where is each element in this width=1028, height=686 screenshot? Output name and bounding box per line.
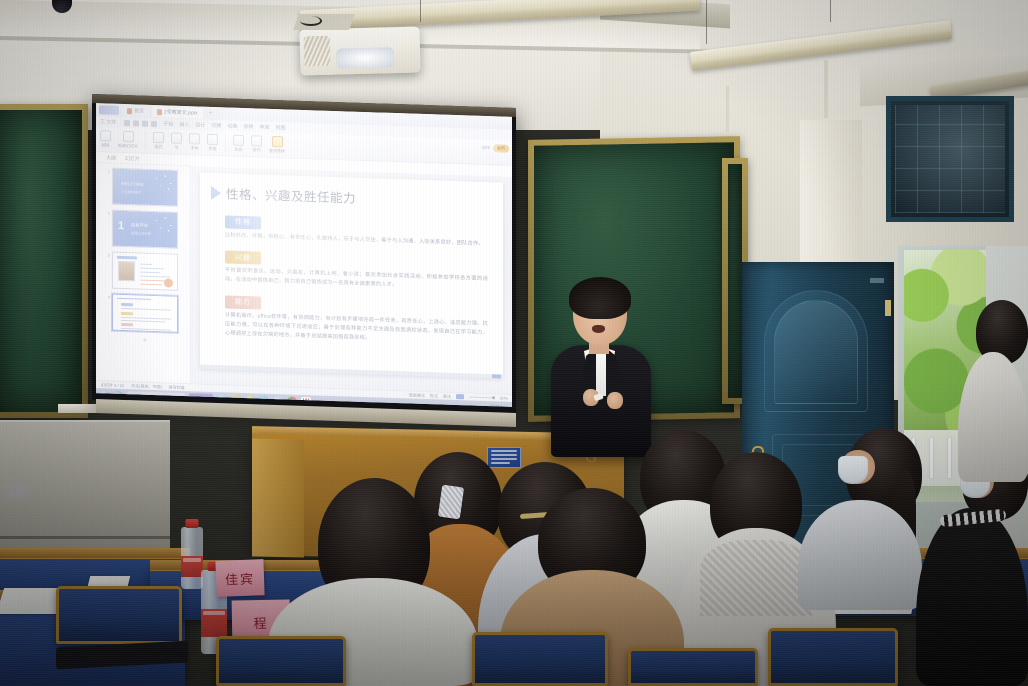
thumb-big-number: 1 <box>118 221 124 232</box>
projector-vent <box>304 36 331 67</box>
classroom-scene: 首页 2号教室文.pptx + 三 文件 开始 插入 设 <box>0 0 1028 686</box>
menu-item-0[interactable]: 开始 <box>163 120 173 127</box>
slide-text-personality: 比较外向、开朗，有耐心、有责任心，礼貌待人，乐于与人交往，善于与人沟通，人际关系… <box>225 231 488 249</box>
home-icon <box>127 108 132 114</box>
menu-item-5[interactable]: 放映 <box>243 123 253 130</box>
ribbon-paragraph[interactable]: 段落 <box>207 134 218 152</box>
thumb-number: 1 <box>105 167 110 173</box>
presenter-hair <box>569 277 631 319</box>
door-hinge <box>885 300 891 316</box>
projection-screen: 首页 2号教室文.pptx + 三 文件 开始 插入 设 <box>92 94 516 414</box>
ceiling-pipe <box>824 60 828 118</box>
chair-5 <box>768 628 898 686</box>
ribbon-collab-label[interactable]: 协作 <box>482 145 490 151</box>
thumb-number: 2 <box>105 209 110 215</box>
projector-lens <box>336 47 395 69</box>
redo-icon[interactable] <box>151 120 157 126</box>
ribbon-arrange[interactable]: 排列 <box>251 135 262 153</box>
ribbon-shape-label: 形状 <box>235 147 243 153</box>
ribbon-find-label: 查找替换 <box>269 148 285 155</box>
list-item: + <box>105 335 187 346</box>
wps-workarea: 大纲 幻灯片 1 WELCOME 人生规划展示 2 <box>96 152 512 394</box>
status-notes[interactable]: 备注 <box>443 393 451 399</box>
find-icon <box>272 136 283 147</box>
wps-logo-icon <box>99 105 119 115</box>
undo-icon[interactable] <box>142 120 148 126</box>
water-bottle-1 <box>181 527 203 589</box>
file-menu[interactable]: 三 文件 <box>100 118 116 126</box>
chair-4 <box>628 648 758 686</box>
menu-item-3[interactable]: 切换 <box>211 122 221 129</box>
hair-clip-1 <box>438 485 464 520</box>
ribbon-paragraph-label: 段落 <box>209 146 217 152</box>
system-tray: ▲ ◄ 中 13:41 2021/4/29 ▣ <box>467 403 509 407</box>
menu-item-4[interactable]: 动画 <box>227 122 237 129</box>
left-chalkboard <box>0 104 88 418</box>
ribbon-font-label: 字体 <box>191 145 199 151</box>
status-spellcheck[interactable]: 拼写检查 <box>169 384 185 391</box>
section-icon <box>171 133 182 144</box>
ribbon-divider-2 <box>225 134 226 152</box>
horizontal-scrollbar[interactable] <box>200 365 503 379</box>
ribbon-section[interactable]: 节 <box>171 133 182 151</box>
ceiling-pipe-2 <box>726 86 729 132</box>
member-badge[interactable]: 会员 <box>493 144 509 153</box>
ribbon-find-replace[interactable]: 查找替换 <box>269 136 285 155</box>
ceiling-projector <box>299 26 420 75</box>
layout-icon <box>153 132 164 143</box>
face-mask-1 <box>838 456 868 484</box>
slide-thumbnail-3[interactable] <box>112 252 178 291</box>
thumb-title: 自我评估 <box>131 222 148 229</box>
tab-home[interactable]: 首页 <box>122 105 149 117</box>
cabinet-seam <box>0 536 170 539</box>
slide-tag-ability: 能力 <box>225 295 261 309</box>
slide-text-ability: 计算机操作，office软件等，有协调能力，有计划有步骤地完成一件任务，有责任心… <box>225 311 488 347</box>
slide-thumbnail-4[interactable] <box>112 294 178 333</box>
slideshow-play-icon[interactable] <box>456 394 464 399</box>
slide-heading: 性格、兴趣及胜任能力 <box>226 183 356 206</box>
status-comment[interactable]: 批注 <box>430 393 438 399</box>
status-beautify[interactable]: 智能美化 <box>409 392 425 399</box>
tab-home-label: 首页 <box>134 107 144 114</box>
ribbon-divider <box>145 132 146 150</box>
list-item[interactable]: 4 <box>105 293 187 333</box>
ribbon-layout[interactable]: 版式 <box>153 132 164 150</box>
ribbon-layout-label: 版式 <box>155 144 163 150</box>
thumb-number: 4 <box>105 293 110 299</box>
menu-item-1[interactable]: 插入 <box>179 121 189 128</box>
paragraph-icon <box>207 134 218 145</box>
font-icon <box>189 133 200 144</box>
add-slide-button[interactable]: + <box>112 336 178 346</box>
tab-slides[interactable]: 幻灯片 <box>125 155 140 162</box>
thumb-sub: 自我认知分析 <box>131 230 151 236</box>
ribbon-new-slide[interactable]: 新建幻灯片 <box>118 131 138 150</box>
presenter-mouth <box>592 325 605 333</box>
list-item[interactable]: 3 <box>105 251 187 291</box>
ribbon-new-slide-label: 新建幻灯片 <box>118 143 138 150</box>
tab-file-label: 2号教室文.pptx <box>164 108 198 116</box>
chair-3 <box>472 632 608 686</box>
input-method-icon[interactable]: 中 <box>480 405 484 407</box>
shape-icon <box>233 135 244 146</box>
save-icon[interactable] <box>124 120 130 126</box>
ribbon-shape[interactable]: 形状 <box>233 135 244 153</box>
tab-outline[interactable]: 大纲 <box>106 154 116 161</box>
slide-heading-row: 性格、兴趣及胜任能力 <box>211 183 492 211</box>
name-card-guest: 佳宾 <box>215 559 264 597</box>
projected-desktop[interactable]: 首页 2号教室文.pptx + 三 文件 开始 插入 设 <box>96 103 512 407</box>
ppt-file-icon <box>157 109 162 115</box>
triangle-bullet-icon <box>211 185 221 199</box>
paste-icon <box>100 130 111 141</box>
taskbar-clock[interactable]: 13:41 2021/4/29 <box>487 404 503 407</box>
cabinet-smudge <box>2 480 32 502</box>
light-hanger <box>420 0 421 22</box>
slide-tag-personality: 性格 <box>225 215 261 229</box>
status-zoom-level[interactable]: 60% <box>500 396 508 401</box>
quick-access-toolbar[interactable] <box>124 120 157 127</box>
zoom-slider[interactable] <box>469 396 495 398</box>
thumb-title: WELCOME <box>121 181 144 187</box>
new-tab-button[interactable]: + <box>206 110 216 117</box>
ribbon-paste[interactable]: 粘贴 <box>100 130 111 148</box>
list-item[interactable]: 1 WELCOME 人生规划展示 <box>105 167 187 207</box>
thumb-number: 3 <box>105 251 110 257</box>
chair-1 <box>56 586 182 644</box>
lectern-side <box>252 438 304 557</box>
print-icon[interactable] <box>133 120 139 126</box>
light-hanger-2 <box>706 0 707 44</box>
ribbon-arrange-label: 排列 <box>253 147 261 153</box>
projector-cable <box>300 16 322 26</box>
slide-text-interest: 平时喜欢听音乐、运动，交朋友，计算机上网，看小说；喜欢参加社会实践活动，积极参加… <box>225 266 488 293</box>
slide-tag-interest: 兴趣 <box>225 250 261 264</box>
light-hanger-3 <box>830 0 831 22</box>
tab-presentation-file[interactable]: 2号教室文.pptx <box>152 106 203 119</box>
ribbon-paste-label: 粘贴 <box>102 142 110 148</box>
chair-2 <box>216 636 346 686</box>
menu-item-7[interactable]: 视图 <box>276 124 286 131</box>
slide-thumbnail-1[interactable]: WELCOME 人生规划展示 <box>112 168 178 207</box>
arrange-icon <box>251 135 262 146</box>
new-slide-icon <box>123 131 134 142</box>
thumb-sub: 人生规划展示 <box>121 189 141 195</box>
slide-editor-pane[interactable]: 性格、兴趣及胜任能力 性格 比较外向、开朗，有耐心、有责任心，礼貌待人，乐于与人… <box>191 166 512 394</box>
slide-thumbnail-pane[interactable]: 1 WELCOME 人生规划展示 2 1 自我评估 自 <box>96 163 191 383</box>
presenter-hand-right <box>607 392 623 409</box>
equipment-sticker <box>487 447 521 468</box>
current-slide[interactable]: 性格、兴趣及胜任能力 性格 比较外向、开朗，有耐心、有责任心，礼貌待人，乐于与人… <box>200 173 503 379</box>
slide-thumbnail-2[interactable]: 1 自我评估 自我认知分析 <box>112 210 178 249</box>
ribbon-right-group: 协作 会员 <box>482 144 509 153</box>
menu-item-6[interactable]: 审阅 <box>259 124 269 131</box>
door-arch-inner <box>774 300 858 404</box>
clock-time: 13:41 <box>490 404 499 407</box>
ribbon-font[interactable]: 字体 <box>189 133 200 151</box>
ribbon-section-label: 节 <box>175 145 179 151</box>
menu-item-2[interactable]: 设计 <box>195 121 205 128</box>
network-icon[interactable]: ▲ <box>467 405 471 406</box>
door-nameplate <box>870 278 884 283</box>
volume-icon[interactable]: ◄ <box>473 406 477 407</box>
student-2-lace-pattern <box>700 540 812 616</box>
list-item[interactable]: 2 1 自我评估 自我认知分析 <box>105 209 187 249</box>
upper-window <box>886 96 1014 222</box>
desk-back-left-edge <box>0 548 190 558</box>
